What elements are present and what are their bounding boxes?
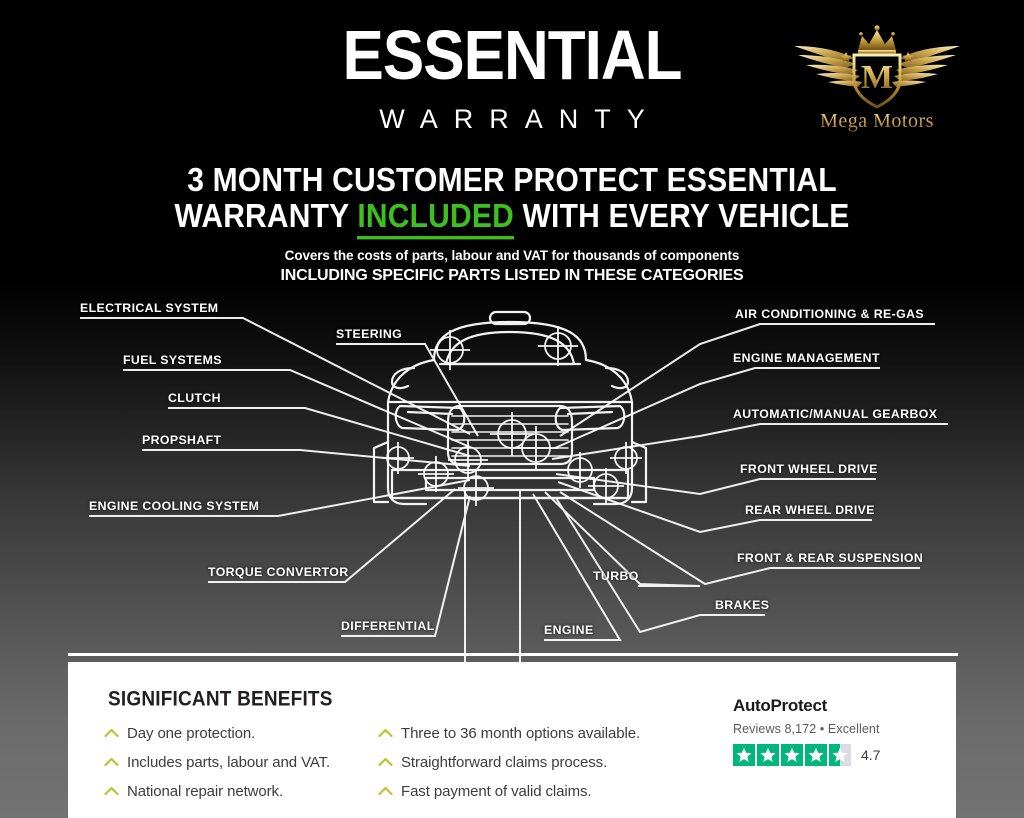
subheading-line-2: INCLUDING SPECIFIC PARTS LISTED IN THESE… xyxy=(0,265,1024,286)
diagram-label-differential: DIFFERENTIAL xyxy=(341,620,435,632)
diagram-label-engine: ENGINE xyxy=(544,624,594,636)
diagram-label-steering: STEERING xyxy=(336,328,402,340)
mega-motors-logo: M Mega Motors xyxy=(782,24,972,142)
vehicle-component-diagram: ELECTRICAL SYSTEM FUEL SYSTEMS CLUTCH PR… xyxy=(0,284,1024,662)
logo-crest-icon: M xyxy=(782,24,972,108)
trustpilot-stars: 4.7 xyxy=(733,744,933,766)
chevron-up-icon xyxy=(104,726,119,740)
benefit-item: Day one protection. xyxy=(104,724,330,748)
diagram-label-engine-management: ENGINE MANAGEMENT xyxy=(733,352,880,364)
diagram-label-brakes: BRAKES xyxy=(715,599,769,611)
chevron-up-icon xyxy=(104,784,119,798)
diagram-label-turbo: TURBO xyxy=(593,570,639,582)
autoprotect-reviews: Reviews 8,172 • Excellent xyxy=(733,722,933,736)
logo-wordmark: Mega Motors xyxy=(782,110,972,133)
benefit-text: Day one protection. xyxy=(127,724,255,744)
headline-line-1: 3 MONTH CUSTOMER PROTECT ESSENTIAL xyxy=(0,161,1024,201)
benefits-column-2: Three to 36 month options available. Str… xyxy=(378,724,640,811)
star-icon-full xyxy=(781,744,803,766)
subheading: Covers the costs of parts, labour and VA… xyxy=(0,246,1024,286)
benefit-item: National repair network. xyxy=(104,782,330,806)
chevron-up-icon xyxy=(378,755,393,769)
star-icon-full xyxy=(757,744,779,766)
benefit-item: Three to 36 month options available. xyxy=(378,724,640,748)
diagram-label-front-wheel-drive: FRONT WHEEL DRIVE xyxy=(740,463,878,475)
diagram-label-clutch: CLUTCH xyxy=(168,392,221,404)
benefit-item: Fast payment of valid claims. xyxy=(378,782,640,806)
benefit-text: National repair network. xyxy=(127,782,283,802)
benefit-text: Includes parts, labour and VAT. xyxy=(127,753,330,773)
diagram-label-rear-wheel-drive: REAR WHEEL DRIVE xyxy=(745,504,875,516)
diagram-label-engine-cooling-system: ENGINE COOLING SYSTEM xyxy=(89,500,259,512)
diagram-label-propshaft: PROPSHAFT xyxy=(142,434,221,446)
benefit-text: Straightforward claims process. xyxy=(401,753,607,773)
significant-benefits-panel: SIGNIFICANT BENEFITS Day one protection.… xyxy=(68,662,956,818)
diagram-label-torque-convertor: TORQUE CONVERTOR xyxy=(208,566,349,578)
benefits-column-1: Day one protection. Includes parts, labo… xyxy=(104,724,330,811)
chevron-up-icon xyxy=(378,726,393,740)
star-icon-half xyxy=(829,744,851,766)
header: ESSENTIAL WARRANTY xyxy=(0,0,1024,152)
autoprotect-name: AutoProtect xyxy=(733,696,933,716)
svg-text:M: M xyxy=(861,59,893,96)
headline-line-2: WARRANTY INCLUDED WITH EVERY VEHICLE xyxy=(0,197,1024,237)
star-icon-full xyxy=(805,744,827,766)
headline-highlight: INCLUDED xyxy=(357,198,514,239)
chevron-up-icon xyxy=(104,755,119,769)
star-icon-full xyxy=(733,744,755,766)
diagram-label-automatic-manual-gearbox: AUTOMATIC/MANUAL GEARBOX xyxy=(733,408,937,420)
autoprotect-score: 4.7 xyxy=(861,747,880,763)
diagram-label-front-and-rear-suspension: FRONT & REAR SUSPENSION xyxy=(737,552,923,564)
chevron-up-icon xyxy=(378,784,393,798)
headline-line-2-before: WARRANTY xyxy=(174,198,357,235)
headline-line-2-after: WITH EVERY VEHICLE xyxy=(514,198,850,235)
warranty-infographic: ESSENTIAL WARRANTY xyxy=(0,0,1024,818)
autoprotect-rating: AutoProtect Reviews 8,172 • Excellent xyxy=(733,696,933,766)
subheading-line-1: Covers the costs of parts, labour and VA… xyxy=(0,246,1024,265)
diagram-label-air-conditioning-and-re-gas: AIR CONDITIONING & RE-GAS xyxy=(735,308,924,320)
benefit-text: Three to 36 month options available. xyxy=(401,724,640,744)
diagram-label-fuel-systems: FUEL SYSTEMS xyxy=(123,354,222,366)
benefit-item: Straightforward claims process. xyxy=(378,753,640,777)
benefit-text: Fast payment of valid claims. xyxy=(401,782,592,802)
panel-top-rule xyxy=(68,653,958,656)
benefit-item: Includes parts, labour and VAT. xyxy=(104,753,330,777)
panel-title: SIGNIFICANT BENEFITS xyxy=(108,688,333,712)
headline: 3 MONTH CUSTOMER PROTECT ESSENTIAL WARRA… xyxy=(0,163,1024,235)
diagram-label-electrical-system: ELECTRICAL SYSTEM xyxy=(80,302,218,314)
